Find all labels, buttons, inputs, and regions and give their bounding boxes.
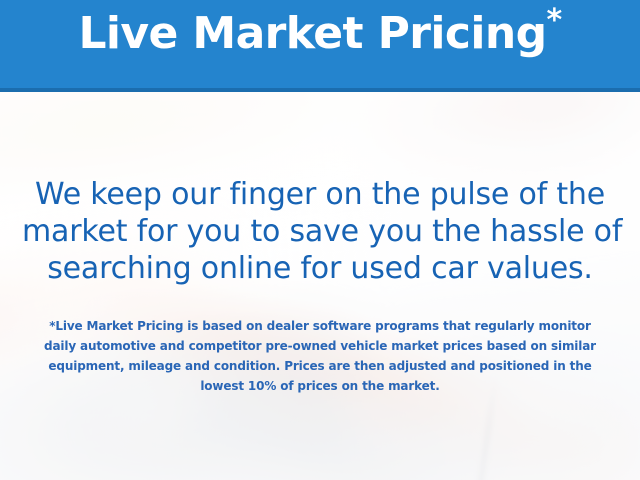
fineprint-line-1: *Live Market Pricing is based on dealer … <box>20 316 620 336</box>
headline-line-2: market for you to save you the hassle of <box>22 213 618 250</box>
page-title-text: Live Market Pricing <box>78 8 546 59</box>
header-bar: Live Market Pricing* <box>0 0 640 92</box>
headline-line-1: We keep our finger on the pulse of the <box>22 176 618 213</box>
fineprint-line-4: lowest 10% of prices on the market. <box>20 376 620 396</box>
disclaimer-fineprint: *Live Market Pricing is based on dealer … <box>20 316 620 396</box>
fineprint-line-2: daily automotive and competitor pre-owne… <box>20 336 620 356</box>
headline-line-3: searching online for used car values. <box>22 250 618 287</box>
headline: We keep our finger on the pulse of the m… <box>22 176 618 287</box>
live-market-pricing-banner: Live Market Pricing* We keep our finger … <box>0 0 640 480</box>
fineprint-line-3: equipment, mileage and condition. Prices… <box>20 356 620 376</box>
page-title-asterisk: * <box>546 3 561 38</box>
page-title: Live Market Pricing* <box>0 12 640 56</box>
